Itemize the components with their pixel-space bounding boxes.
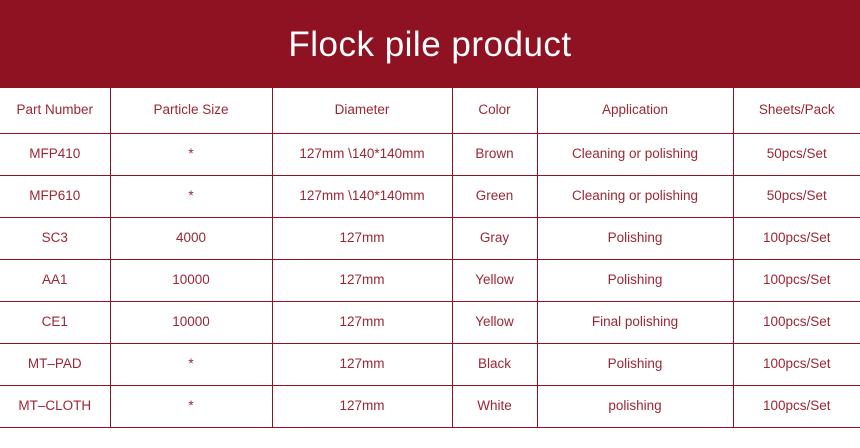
cell-value: MFP610 — [0, 189, 110, 204]
cell-value: Gray — [453, 231, 537, 246]
cell-value: Polishing — [538, 273, 733, 288]
cell-sheets-pack: 100pcs/Set — [733, 260, 860, 302]
cell-diameter: 127mm — [272, 302, 452, 344]
cell-value: Brown — [453, 147, 537, 162]
cell-diameter: 127mm — [272, 260, 452, 302]
column-header-particle-size: Particle Size — [110, 88, 272, 134]
page-footer-space — [0, 428, 860, 442]
cell-application: polishing — [537, 386, 733, 428]
cell-value: MFP410 — [0, 147, 110, 162]
cell-value: Cleaning or polishing — [538, 147, 733, 162]
product-spec-page: Flock pile product Part Number Particle … — [0, 0, 860, 448]
cell-color: Yellow — [452, 302, 537, 344]
cell-value: CE1 — [0, 315, 110, 330]
cell-part-number: SC3 — [0, 218, 110, 260]
cell-value: 127mm — [273, 357, 452, 372]
cell-value: MT–CLOTH — [0, 399, 110, 414]
cell-part-number: MT–PAD — [0, 344, 110, 386]
cell-value: Black — [453, 357, 537, 372]
cell-sheets-pack: 50pcs/Set — [733, 134, 860, 176]
cell-value: * — [111, 357, 272, 372]
column-header-label: Sheets/Pack — [734, 103, 860, 118]
column-header-label: Diameter — [273, 103, 452, 118]
cell-value: White — [453, 399, 537, 414]
table-header-row: Part Number Particle Size Diameter Color… — [0, 88, 860, 134]
cell-color: Gray — [452, 218, 537, 260]
cell-value: AA1 — [0, 273, 110, 288]
cell-value: Green — [453, 189, 537, 204]
cell-application: Cleaning or polishing — [537, 176, 733, 218]
column-header-label: Part Number — [0, 103, 110, 118]
cell-value: * — [111, 189, 272, 204]
cell-value: 50pcs/Set — [734, 189, 860, 204]
column-header-part-number: Part Number — [0, 88, 110, 134]
cell-color: Green — [452, 176, 537, 218]
column-header-sheets-pack: Sheets/Pack — [733, 88, 860, 134]
cell-part-number: MT–CLOTH — [0, 386, 110, 428]
column-header-label: Color — [453, 103, 537, 118]
cell-value: 127mm — [273, 399, 452, 414]
cell-value: 127mm — [273, 273, 452, 288]
cell-part-number: AA1 — [0, 260, 110, 302]
cell-value: 10000 — [111, 273, 272, 288]
column-header-label: Application — [538, 103, 733, 118]
cell-value: 127mm \140*140mm — [273, 147, 452, 162]
cell-diameter: 127mm — [272, 344, 452, 386]
cell-particle-size: * — [110, 134, 272, 176]
cell-sheets-pack: 100pcs/Set — [733, 218, 860, 260]
table-row: MT–PAD * 127mm Black Polishing 100pcs/Se… — [0, 344, 860, 386]
cell-particle-size: 4000 — [110, 218, 272, 260]
cell-particle-size: 10000 — [110, 302, 272, 344]
cell-value: 127mm \140*140mm — [273, 189, 452, 204]
column-header-label: Particle Size — [111, 103, 272, 118]
cell-value: * — [111, 399, 272, 414]
table-row: MFP410 * 127mm \140*140mm Brown Cleaning… — [0, 134, 860, 176]
cell-value: Yellow — [453, 273, 537, 288]
table-row: MT–CLOTH * 127mm White polishing 100pcs/… — [0, 386, 860, 428]
cell-color: Brown — [452, 134, 537, 176]
cell-value: 127mm — [273, 231, 452, 246]
cell-value: 100pcs/Set — [734, 357, 860, 372]
table-row: MFP610 * 127mm \140*140mm Green Cleaning… — [0, 176, 860, 218]
table-row: SC3 4000 127mm Gray Polishing 100pcs/Set — [0, 218, 860, 260]
cell-value: 100pcs/Set — [734, 315, 860, 330]
cell-diameter: 127mm \140*140mm — [272, 176, 452, 218]
page-banner: Flock pile product — [0, 0, 860, 88]
cell-sheets-pack: 100pcs/Set — [733, 302, 860, 344]
cell-part-number: CE1 — [0, 302, 110, 344]
cell-value: 100pcs/Set — [734, 399, 860, 414]
column-header-application: Application — [537, 88, 733, 134]
cell-color: Yellow — [452, 260, 537, 302]
cell-value: 50pcs/Set — [734, 147, 860, 162]
cell-value: Final polishing — [538, 315, 733, 330]
cell-application: Cleaning or polishing — [537, 134, 733, 176]
cell-value: 100pcs/Set — [734, 273, 860, 288]
column-header-color: Color — [452, 88, 537, 134]
cell-value: 10000 — [111, 315, 272, 330]
cell-diameter: 127mm — [272, 218, 452, 260]
cell-application: Polishing — [537, 218, 733, 260]
cell-value: SC3 — [0, 231, 110, 246]
cell-particle-size: * — [110, 386, 272, 428]
cell-diameter: 127mm \140*140mm — [272, 134, 452, 176]
table-row: AA1 10000 127mm Yellow Polishing 100pcs/… — [0, 260, 860, 302]
cell-application: Polishing — [537, 260, 733, 302]
cell-value: * — [111, 147, 272, 162]
cell-value: Polishing — [538, 231, 733, 246]
cell-value: Yellow — [453, 315, 537, 330]
cell-value: MT–PAD — [0, 357, 110, 372]
cell-value: 127mm — [273, 315, 452, 330]
product-spec-table: Part Number Particle Size Diameter Color… — [0, 88, 860, 428]
cell-application: Final polishing — [537, 302, 733, 344]
cell-part-number: MFP610 — [0, 176, 110, 218]
cell-sheets-pack: 50pcs/Set — [733, 176, 860, 218]
cell-value: polishing — [538, 399, 733, 414]
cell-value: Polishing — [538, 357, 733, 372]
page-title: Flock pile product — [288, 27, 571, 62]
cell-value: 100pcs/Set — [734, 231, 860, 246]
cell-particle-size: 10000 — [110, 260, 272, 302]
cell-application: Polishing — [537, 344, 733, 386]
cell-diameter: 127mm — [272, 386, 452, 428]
table-row: CE1 10000 127mm Yellow Final polishing 1… — [0, 302, 860, 344]
cell-particle-size: * — [110, 344, 272, 386]
column-header-diameter: Diameter — [272, 88, 452, 134]
cell-sheets-pack: 100pcs/Set — [733, 344, 860, 386]
cell-value: Cleaning or polishing — [538, 189, 733, 204]
cell-sheets-pack: 100pcs/Set — [733, 386, 860, 428]
cell-part-number: MFP410 — [0, 134, 110, 176]
cell-color: White — [452, 386, 537, 428]
cell-color: Black — [452, 344, 537, 386]
cell-particle-size: * — [110, 176, 272, 218]
cell-value: 4000 — [111, 231, 272, 246]
